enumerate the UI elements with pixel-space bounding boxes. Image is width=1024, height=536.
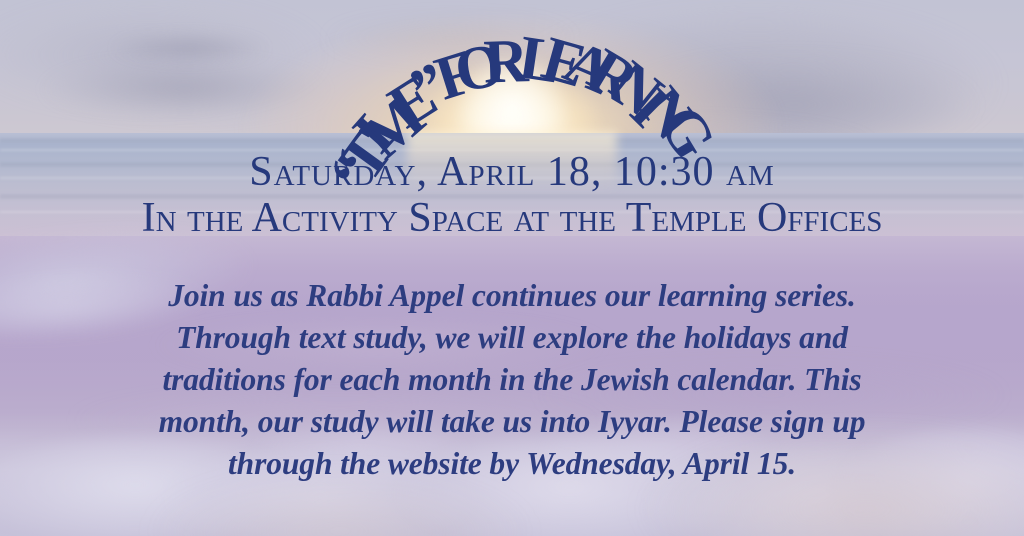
event-description-line: traditions for each month in the Jewish … (72, 359, 952, 401)
event-datetime-line: Saturday, April 18, 10:30 am (0, 148, 1024, 196)
flyer-text-layer: “TIME” FOR LEARNING Saturday, April 18, … (0, 0, 1024, 536)
event-description-line: Through text study, we will explore the … (72, 317, 952, 359)
flyer-canvas: “TIME” FOR LEARNING Saturday, April 18, … (0, 0, 1024, 536)
event-description-line: Join us as Rabbi Appel continues our lea… (72, 275, 952, 317)
page-title-arched: “TIME” FOR LEARNING (0, 0, 1024, 160)
event-location-line: In the Activity Space at the Temple Offi… (0, 194, 1024, 242)
event-description-line: through the website by Wednesday, April … (72, 443, 952, 485)
event-description: Join us as Rabbi Appel continues our lea… (72, 275, 952, 485)
event-description-line: month, our study will take us into Iyyar… (72, 401, 952, 443)
